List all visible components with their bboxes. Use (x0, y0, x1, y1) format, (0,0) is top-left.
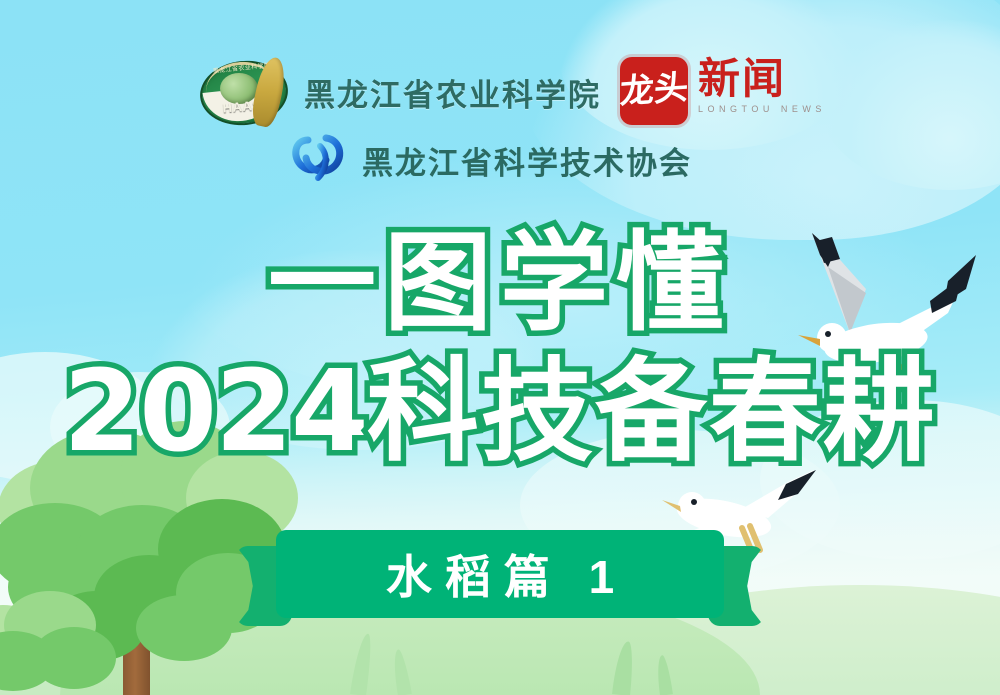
haas-emblem-icon: 黑龙江省农业科学院 HAAS (196, 55, 288, 129)
longtou-name-cn: 新闻 (698, 57, 826, 103)
longtou-news-logo: 龙头 新闻 LONGTOU NEWS (620, 57, 826, 125)
org-row-kexie: 黑龙江省科学技术协会 (290, 134, 692, 186)
tree-foliage (136, 595, 232, 661)
seagull-flying-right (780, 215, 1000, 390)
org-row-haas: 黑龙江省农业科学院 HAAS 黑龙江省农业科学院 (196, 55, 601, 129)
cloud-upper-right (820, 20, 1000, 190)
tree-bush (0, 585, 130, 695)
subtitle-ribbon-banner: 水稻篇 1 (236, 530, 764, 634)
bush-foliage (32, 627, 116, 689)
longtou-text-block: 新闻 LONGTOU NEWS (698, 57, 826, 114)
poster-canvas: 黑龙江省农业科学院 HAAS 黑龙江省农业科学院 龙头 新闻 LONGTOU N… (0, 0, 1000, 695)
kexie-knot-logo-icon (290, 134, 346, 186)
ribbon-label: 水稻篇 1 (373, 541, 627, 607)
org2-label: 黑龙江省科学技术协会 (362, 138, 692, 183)
longtou-name-en: LONGTOU NEWS (698, 104, 826, 114)
longtou-stamp-icon: 龙头 (620, 57, 688, 125)
org1-label: 黑龙江省农业科学院 (304, 70, 601, 115)
ribbon-band: 水稻篇 1 (276, 530, 724, 618)
longtou-stamp-char: 龙头 (619, 72, 689, 111)
